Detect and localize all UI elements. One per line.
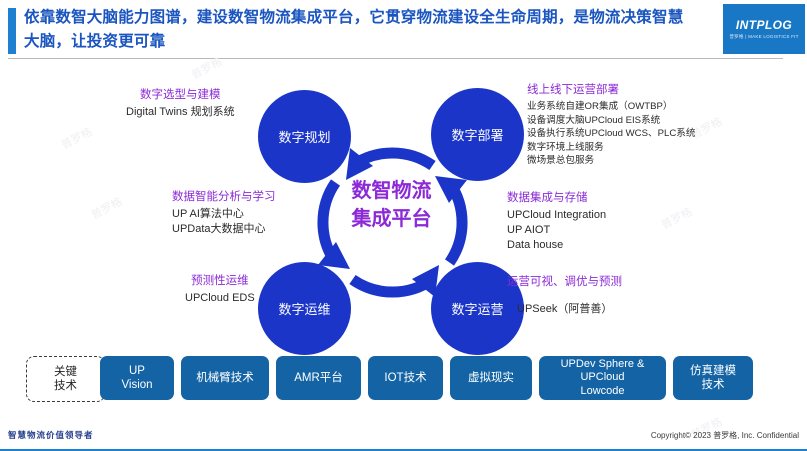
block-heading: 线上线下运营部署 <box>527 81 695 97</box>
tag-line1: 虚拟现实 <box>468 371 514 385</box>
block-data-integration-storage: 数据集成与存储 UPCloud Integration UP AIOT Data… <box>507 189 606 253</box>
block-online-offline-deployment: 线上线下运营部署 业务系统自建OR集成（OWTBP） 设备调度大脑UPCloud… <box>527 81 695 168</box>
logo-tagline: 普罗格 | MAKE LOGISTICS FIT <box>729 34 798 40</box>
tag-line1: UP <box>121 364 152 378</box>
block-operations-visibility: 运营可视、调优与预测 UPSeek（阿普善） <box>507 273 622 317</box>
block-line: UPCloud EDS <box>185 291 255 306</box>
tag-line2: UPCloud <box>561 371 645 385</box>
footer-slogan: 智慧物流价值领导者 <box>8 429 94 441</box>
block-line: UPSeek（阿普善） <box>517 302 622 317</box>
tag-line3: Lowcode <box>561 385 645 399</box>
center-title-line1: 数智物流 <box>320 177 463 205</box>
block-line: 微场景总包服务 <box>527 154 695 168</box>
logo-wordmark: INTPLOG <box>736 18 792 32</box>
block-line: Digital Twins 规划系统 <box>126 105 235 120</box>
block-predictive-maintenance: 预测性运维 UPCloud EDS <box>185 272 255 306</box>
block-digital-modeling: 数字选型与建模 Digital Twins 规划系统 <box>126 86 235 120</box>
tag-line2: 技术 <box>690 378 736 392</box>
header-divider <box>8 58 783 59</box>
block-line: UP AI算法中心 <box>172 207 276 222</box>
tag-line1: UPDev Sphere & <box>561 358 645 372</box>
center-title: 数智物流 集成平台 <box>320 177 463 233</box>
slide-canvas: 依靠数智大脑能力图谱，建设数智物流集成平台，它贯穿物流建设全生命周期，是物流决策… <box>0 0 807 451</box>
block-line: 设备执行系统UPCloud WCS、PLC系统 <box>527 127 695 141</box>
center-title-line2: 集成平台 <box>320 205 463 233</box>
tag-line1: 机械臂技术 <box>196 371 254 385</box>
block-heading: 数字选型与建模 <box>126 86 235 102</box>
page-title: 依靠数智大脑能力图谱，建设数智物流集成平台，它贯穿物流建设全生命周期，是物流决策… <box>24 6 684 54</box>
tag-updev-sphere[interactable]: UPDev Sphere & UPCloud Lowcode <box>539 356 666 400</box>
tag-up-vision[interactable]: UP Vision <box>100 356 174 400</box>
title-accent-bar <box>8 8 16 54</box>
tag-line1: AMR平台 <box>294 371 343 385</box>
block-heading: 数据智能分析与学习 <box>172 188 276 204</box>
block-data-analytics: 数据智能分析与学习 UP AI算法中心 UPData大数据中心 <box>172 188 276 237</box>
block-heading: 数据集成与存储 <box>507 189 606 205</box>
capability-diagram: 数字规划 数字部署 数字运维 数字运营 数智物流 集成平台 数 <box>0 62 807 350</box>
footer-copyright: Copyright© 2023 普罗格, Inc. Confidential <box>651 430 799 441</box>
tag-line1: 关键 <box>54 365 77 379</box>
slide-footer: 智慧物流价值领导者 Copyright© 2023 普罗格, Inc. Conf… <box>0 425 807 451</box>
tag-virtual-reality[interactable]: 虚拟现实 <box>450 356 532 400</box>
block-line: 业务系统自建OR集成（OWTBP） <box>527 100 695 114</box>
tag-iot[interactable]: IOT技术 <box>368 356 443 400</box>
block-line: 设备调度大脑UPCloud EIS系统 <box>527 114 695 128</box>
tag-line2: Vision <box>121 378 152 392</box>
tag-key-technology: 关键 技术 <box>26 356 105 402</box>
block-line: 数字环境上线服务 <box>527 141 695 155</box>
tag-robot-arm[interactable]: 机械臂技术 <box>181 356 269 400</box>
tag-simulation-modeling[interactable]: 仿真建模 技术 <box>673 356 753 400</box>
tag-line1: 仿真建模 <box>690 364 736 378</box>
block-line: UP AIOT <box>507 223 606 238</box>
company-logo: INTPLOG 普罗格 | MAKE LOGISTICS FIT <box>723 4 805 54</box>
block-line: UPCloud Integration <box>507 208 606 223</box>
slide-header: 依靠数智大脑能力图谱，建设数智物流集成平台，它贯穿物流建设全生命周期，是物流决策… <box>0 0 807 62</box>
tag-line1: IOT技术 <box>384 371 426 385</box>
block-line: UPData大数据中心 <box>172 222 276 237</box>
tag-line2: 技术 <box>54 379 77 393</box>
tag-amr-platform[interactable]: AMR平台 <box>276 356 361 400</box>
block-line: Data house <box>507 238 606 253</box>
key-technology-row: 关键 技术 UP Vision 机械臂技术 AMR平台 IOT技术 虚拟现实 U… <box>0 356 807 408</box>
block-heading: 运营可视、调优与预测 <box>507 273 622 289</box>
block-heading: 预测性运维 <box>185 272 255 288</box>
